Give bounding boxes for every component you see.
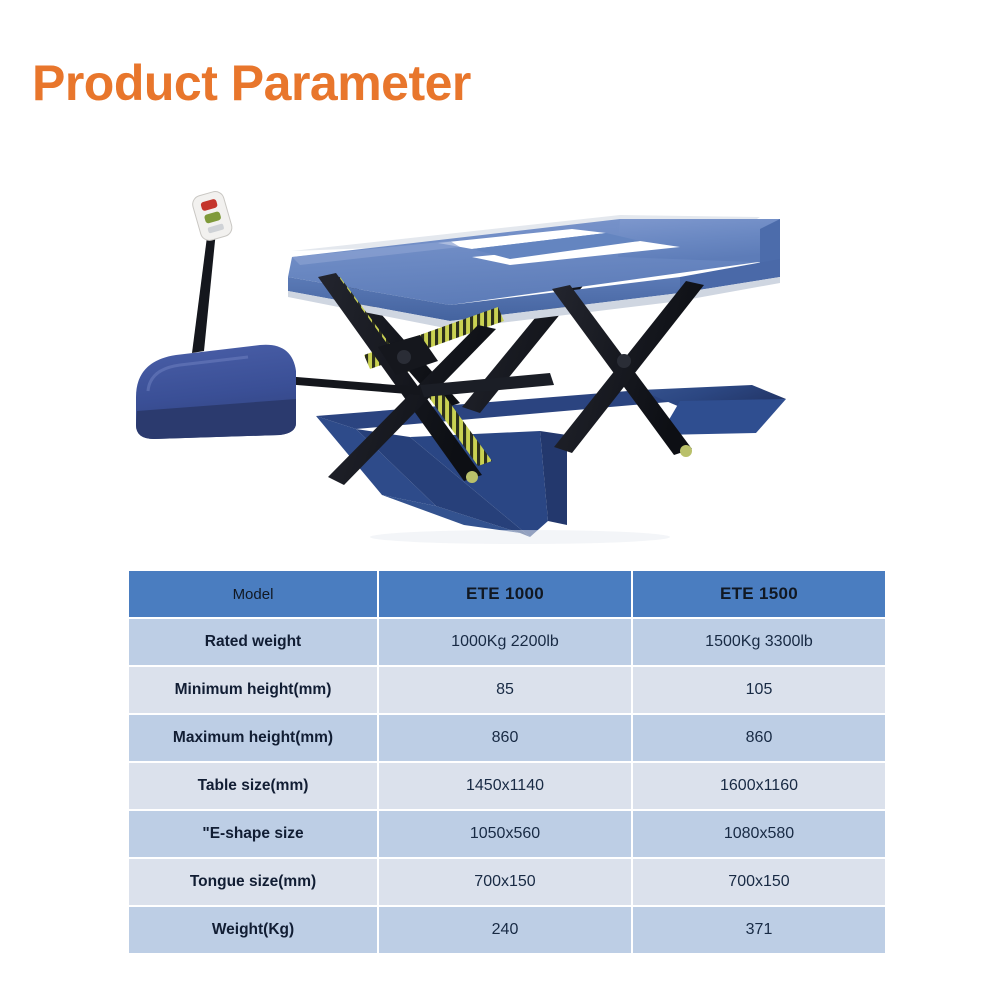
table-row: Tongue size(mm) 700x150 700x150 [129,859,885,905]
hydraulic-power-unit [136,345,296,439]
cell-weight-ete1000: 240 [379,907,631,953]
roller-pin-bottom-right [680,445,692,457]
scissor-lift-illustration [120,185,820,545]
table-row: Maximum height(mm) 860 860 [129,715,885,761]
base-rail-right [660,399,786,435]
cell-minimum-height-ete1500: 105 [633,667,885,713]
base-rear-rail [316,390,680,429]
ground-shadow [370,530,670,544]
cell-tongue-size-ete1500: 700x150 [633,859,885,905]
row-label-minimum-height: Minimum height(mm) [129,667,377,713]
row-label-tongue-size: Tongue size(mm) [129,859,377,905]
table-row: Rated weight 1000Kg 2200lb 1500Kg 3300lb [129,619,885,665]
pivot-pin-right [617,354,631,368]
product-image [120,185,820,545]
table-header-row: Model ETE 1000 ETE 1500 [129,571,885,617]
column-header-ete-1500: ETE 1500 [633,571,885,617]
platform-tongue-right-top [618,219,780,263]
column-header-ete-1000: ETE 1000 [379,571,631,617]
cell-maximum-height-ete1000: 860 [379,715,631,761]
row-label-maximum-height: Maximum height(mm) [129,715,377,761]
base-frame [316,385,786,544]
row-label-table-size: Table size(mm) [129,763,377,809]
product-parameter-table: Model ETE 1000 ETE 1500 Rated weight 100… [127,569,887,955]
cell-table-size-ete1000: 1450x1140 [379,763,631,809]
row-label-weight: Weight(Kg) [129,907,377,953]
page-title: Product Parameter [32,56,471,111]
pendant-cable [192,229,216,353]
cell-rated-weight-ete1000: 1000Kg 2200lb [379,619,631,665]
row-label-e-shape-size: "E-shape size [129,811,377,857]
column-header-model: Model [129,571,377,617]
pendant-control [191,189,234,353]
roller-pin-bottom-left [466,471,478,483]
cell-e-shape-size-ete1000: 1050x560 [379,811,631,857]
cell-rated-weight-ete1500: 1500Kg 3300lb [633,619,885,665]
cell-weight-ete1500: 371 [633,907,885,953]
cell-e-shape-size-ete1500: 1080x580 [633,811,885,857]
table-row: Minimum height(mm) 85 105 [129,667,885,713]
cell-maximum-height-ete1500: 860 [633,715,885,761]
cell-minimum-height-ete1000: 85 [379,667,631,713]
table-row: Weight(Kg) 240 371 [129,907,885,953]
pivot-pin-left [397,350,411,364]
row-label-rated-weight: Rated weight [129,619,377,665]
table-row: Table size(mm) 1450x1140 1600x1160 [129,763,885,809]
cell-table-size-ete1500: 1600x1160 [633,763,885,809]
table-row: "E-shape size 1050x560 1080x580 [129,811,885,857]
cell-tongue-size-ete1000: 700x150 [379,859,631,905]
